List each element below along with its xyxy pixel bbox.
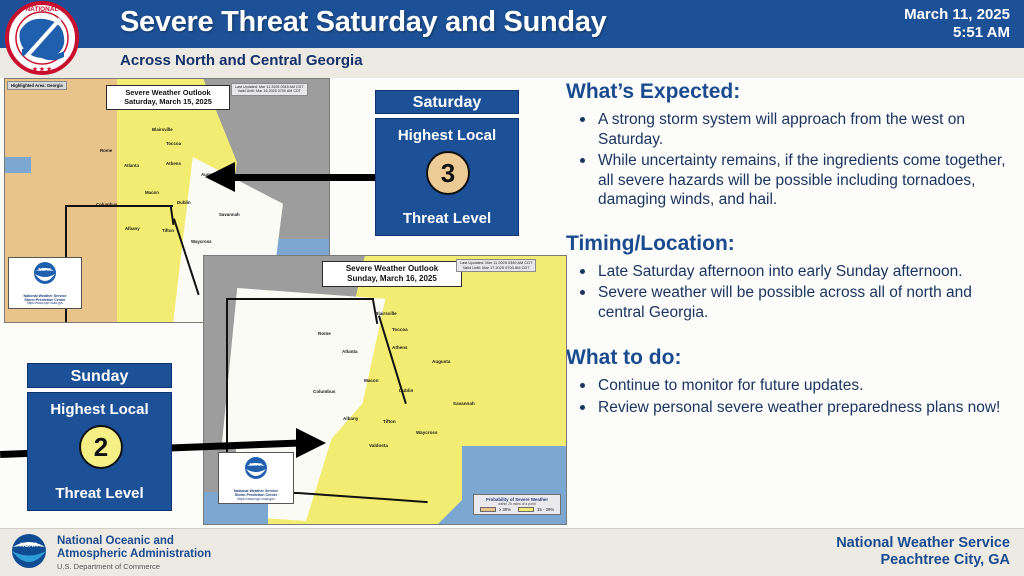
sunday-valid-until: Valid Until: Mar 17 2025 0700 AM CDT	[460, 266, 532, 271]
sunday-map-title: Severe Weather Outlook Sunday, March 16,…	[322, 261, 462, 287]
saturday-threat-top-label: Highest Local	[376, 127, 518, 144]
sunday-map-legend: Probability of Severe Weather within 25 …	[473, 494, 561, 515]
list-item: Late Saturday afternoon into early Sunda…	[572, 262, 1018, 282]
noaa-seal-icon: NOAA	[241, 456, 271, 484]
sunday-threat-box: Highest Local 2 Threat Level	[27, 392, 172, 511]
spc-line3: https://www.spc.noaa.gov	[221, 498, 291, 502]
list-item: Continue to monitor for future updates.	[572, 376, 1018, 396]
city-label: Blairsville	[375, 311, 397, 316]
timing-bullet-list: Late Saturday afternoon into early Sunda…	[572, 262, 1018, 323]
sunday-map-title-line2: Sunday, March 16, 2025	[327, 274, 457, 284]
legend-items: ≥ 30% 15 - 29%	[477, 507, 557, 512]
legend-subtitle: within 25 miles of a point	[477, 502, 557, 506]
city-label: Macon	[145, 190, 159, 195]
sunday-threat-level-circle: 2	[79, 425, 123, 469]
city-label: Albany	[125, 226, 140, 231]
city-label: Toccoa	[166, 141, 181, 146]
legend-swatch-15	[518, 507, 534, 512]
city-label: Columbus	[313, 389, 335, 394]
saturday-map-title-line2: Saturday, March 15, 2025	[111, 97, 225, 106]
noaa-logo-icon: NOAA	[8, 533, 50, 573]
content-panel: What’s Expected: A strong storm system w…	[566, 80, 1018, 419]
noaa-title: National Oceanic and Atmospheric Adminis…	[57, 535, 211, 561]
saturday-valid-until: Valid Until: Mar 16 2025 0700 AM CDT	[235, 89, 304, 93]
infographic-page: NATIONAL ★ ★ ★ Severe Threat Saturday an…	[0, 0, 1024, 576]
saturday-threat-level-circle: 3	[426, 151, 470, 195]
noaa-line2: Atmospheric Administration	[57, 548, 211, 561]
city-label: Macon	[364, 378, 379, 383]
city-label: Waycross	[416, 430, 438, 435]
sunday-map-title-line1: Severe Weather Outlook	[327, 264, 457, 274]
header-time: 5:51 AM	[904, 24, 1010, 42]
office-line1: National Weather Service	[836, 535, 1010, 552]
saturday-arrow-head	[205, 162, 235, 192]
city-label: Albany	[343, 416, 358, 421]
nws-office-credit: National Weather Service Peachtree City,…	[836, 535, 1010, 569]
legend-label-30: ≥ 30%	[499, 507, 511, 512]
saturday-arrow-shaft	[233, 174, 378, 181]
saturday-highlight-label: Highlighted Area: Georgia	[7, 81, 67, 90]
page-subtitle: Across North and Central Georgia	[120, 52, 363, 69]
office-line2: Peachtree City, GA	[836, 552, 1010, 569]
city-label: Atlanta	[342, 349, 358, 354]
city-label: Augusta	[432, 359, 450, 364]
noaa-seal-icon: NOAA	[30, 261, 60, 289]
city-label: Valdosta	[369, 443, 388, 448]
legend-swatch-30	[480, 507, 496, 512]
city-label: Dublin	[177, 200, 191, 205]
city-label: Tifton	[383, 419, 396, 424]
city-label: Tifton	[162, 228, 174, 233]
city-label: Columbus	[96, 202, 117, 207]
city-label: Athens	[392, 345, 408, 350]
saturday-map-title-line1: Severe Weather Outlook	[111, 88, 225, 97]
saturday-threat-box: Highest Local 3 Threat Level	[375, 118, 519, 236]
expected-bullet-list: A strong storm system will approach from…	[572, 110, 1018, 210]
city-label: Rome	[100, 148, 112, 153]
sunday-map-timestamp: Last Updated: Mar 11 2025 0349 AM CDT Va…	[456, 259, 536, 272]
city-label: Rome	[318, 331, 331, 336]
page-title: Severe Threat Saturday and Sunday	[120, 6, 607, 39]
noaa-line1: National Oceanic and	[57, 535, 211, 548]
footer-bar: NOAA National Oceanic and Atmospheric Ad…	[0, 528, 1024, 576]
saturday-map-timestamp: Last Updated: Mar 11 2025 0349 AM CDT Va…	[231, 83, 308, 96]
section-heading-expected: What’s Expected:	[566, 80, 1018, 104]
city-label: Blairsville	[152, 127, 173, 132]
svg-text:NOAA: NOAA	[250, 462, 264, 467]
city-label: Toccoa	[392, 327, 408, 332]
city-label: Atlanta	[124, 163, 139, 168]
section-heading-what-to-do: What to do:	[566, 346, 1018, 370]
nws-roundel-logo: NATIONAL ★ ★ ★	[4, 1, 80, 75]
saturday-spc-credit: NOAA National Weather Service Storm Pred…	[8, 257, 82, 309]
list-item: Review personal severe weather preparedn…	[572, 398, 1018, 418]
city-label: Athens	[166, 161, 181, 166]
spc-line3: https://www.spc.noaa.gov	[11, 302, 79, 306]
saturday-map-title: Severe Weather Outlook Saturday, March 1…	[106, 85, 230, 110]
list-item: A strong storm system will approach from…	[572, 110, 1018, 149]
list-item: Severe weather will be possible across a…	[572, 283, 1018, 322]
saturday-threat-header: Saturday	[375, 90, 519, 114]
sunday-spc-credit: NOAA National Weather Service Storm Pred…	[218, 452, 294, 504]
svg-text:NOAA: NOAA	[39, 267, 53, 272]
svg-text:NATIONAL: NATIONAL	[25, 6, 58, 13]
legend-label-15: 15 - 29%	[537, 507, 554, 512]
sunday-arrow-head	[296, 428, 326, 458]
saturday-threat-bottom-label: Threat Level	[376, 210, 518, 227]
sunday-threat-bottom-label: Threat Level	[28, 485, 171, 502]
noaa-subtitle: U.S. Department of Commerce	[57, 562, 160, 571]
section-heading-timing: Timing/Location:	[566, 232, 1018, 256]
svg-text:★ ★ ★: ★ ★ ★	[32, 66, 52, 73]
sunday-threat-header: Sunday	[27, 363, 172, 388]
header-datetime: March 11, 2025 5:51 AM	[904, 6, 1010, 42]
city-label: Dublin	[399, 388, 413, 393]
sunday-outlook-map: Severe Weather Outlook Sunday, March 16,…	[203, 255, 567, 525]
whattodo-bullet-list: Continue to monitor for future updates. …	[572, 376, 1018, 417]
sunday-threat-top-label: Highest Local	[28, 401, 171, 418]
header-date: March 11, 2025	[904, 6, 1010, 24]
list-item: While uncertainty remains, if the ingred…	[572, 151, 1018, 210]
city-label: Savannah	[453, 401, 475, 406]
city-label: Waycross	[191, 239, 212, 244]
city-label: Savannah	[219, 212, 240, 217]
svg-text:NOAA: NOAA	[20, 543, 38, 549]
